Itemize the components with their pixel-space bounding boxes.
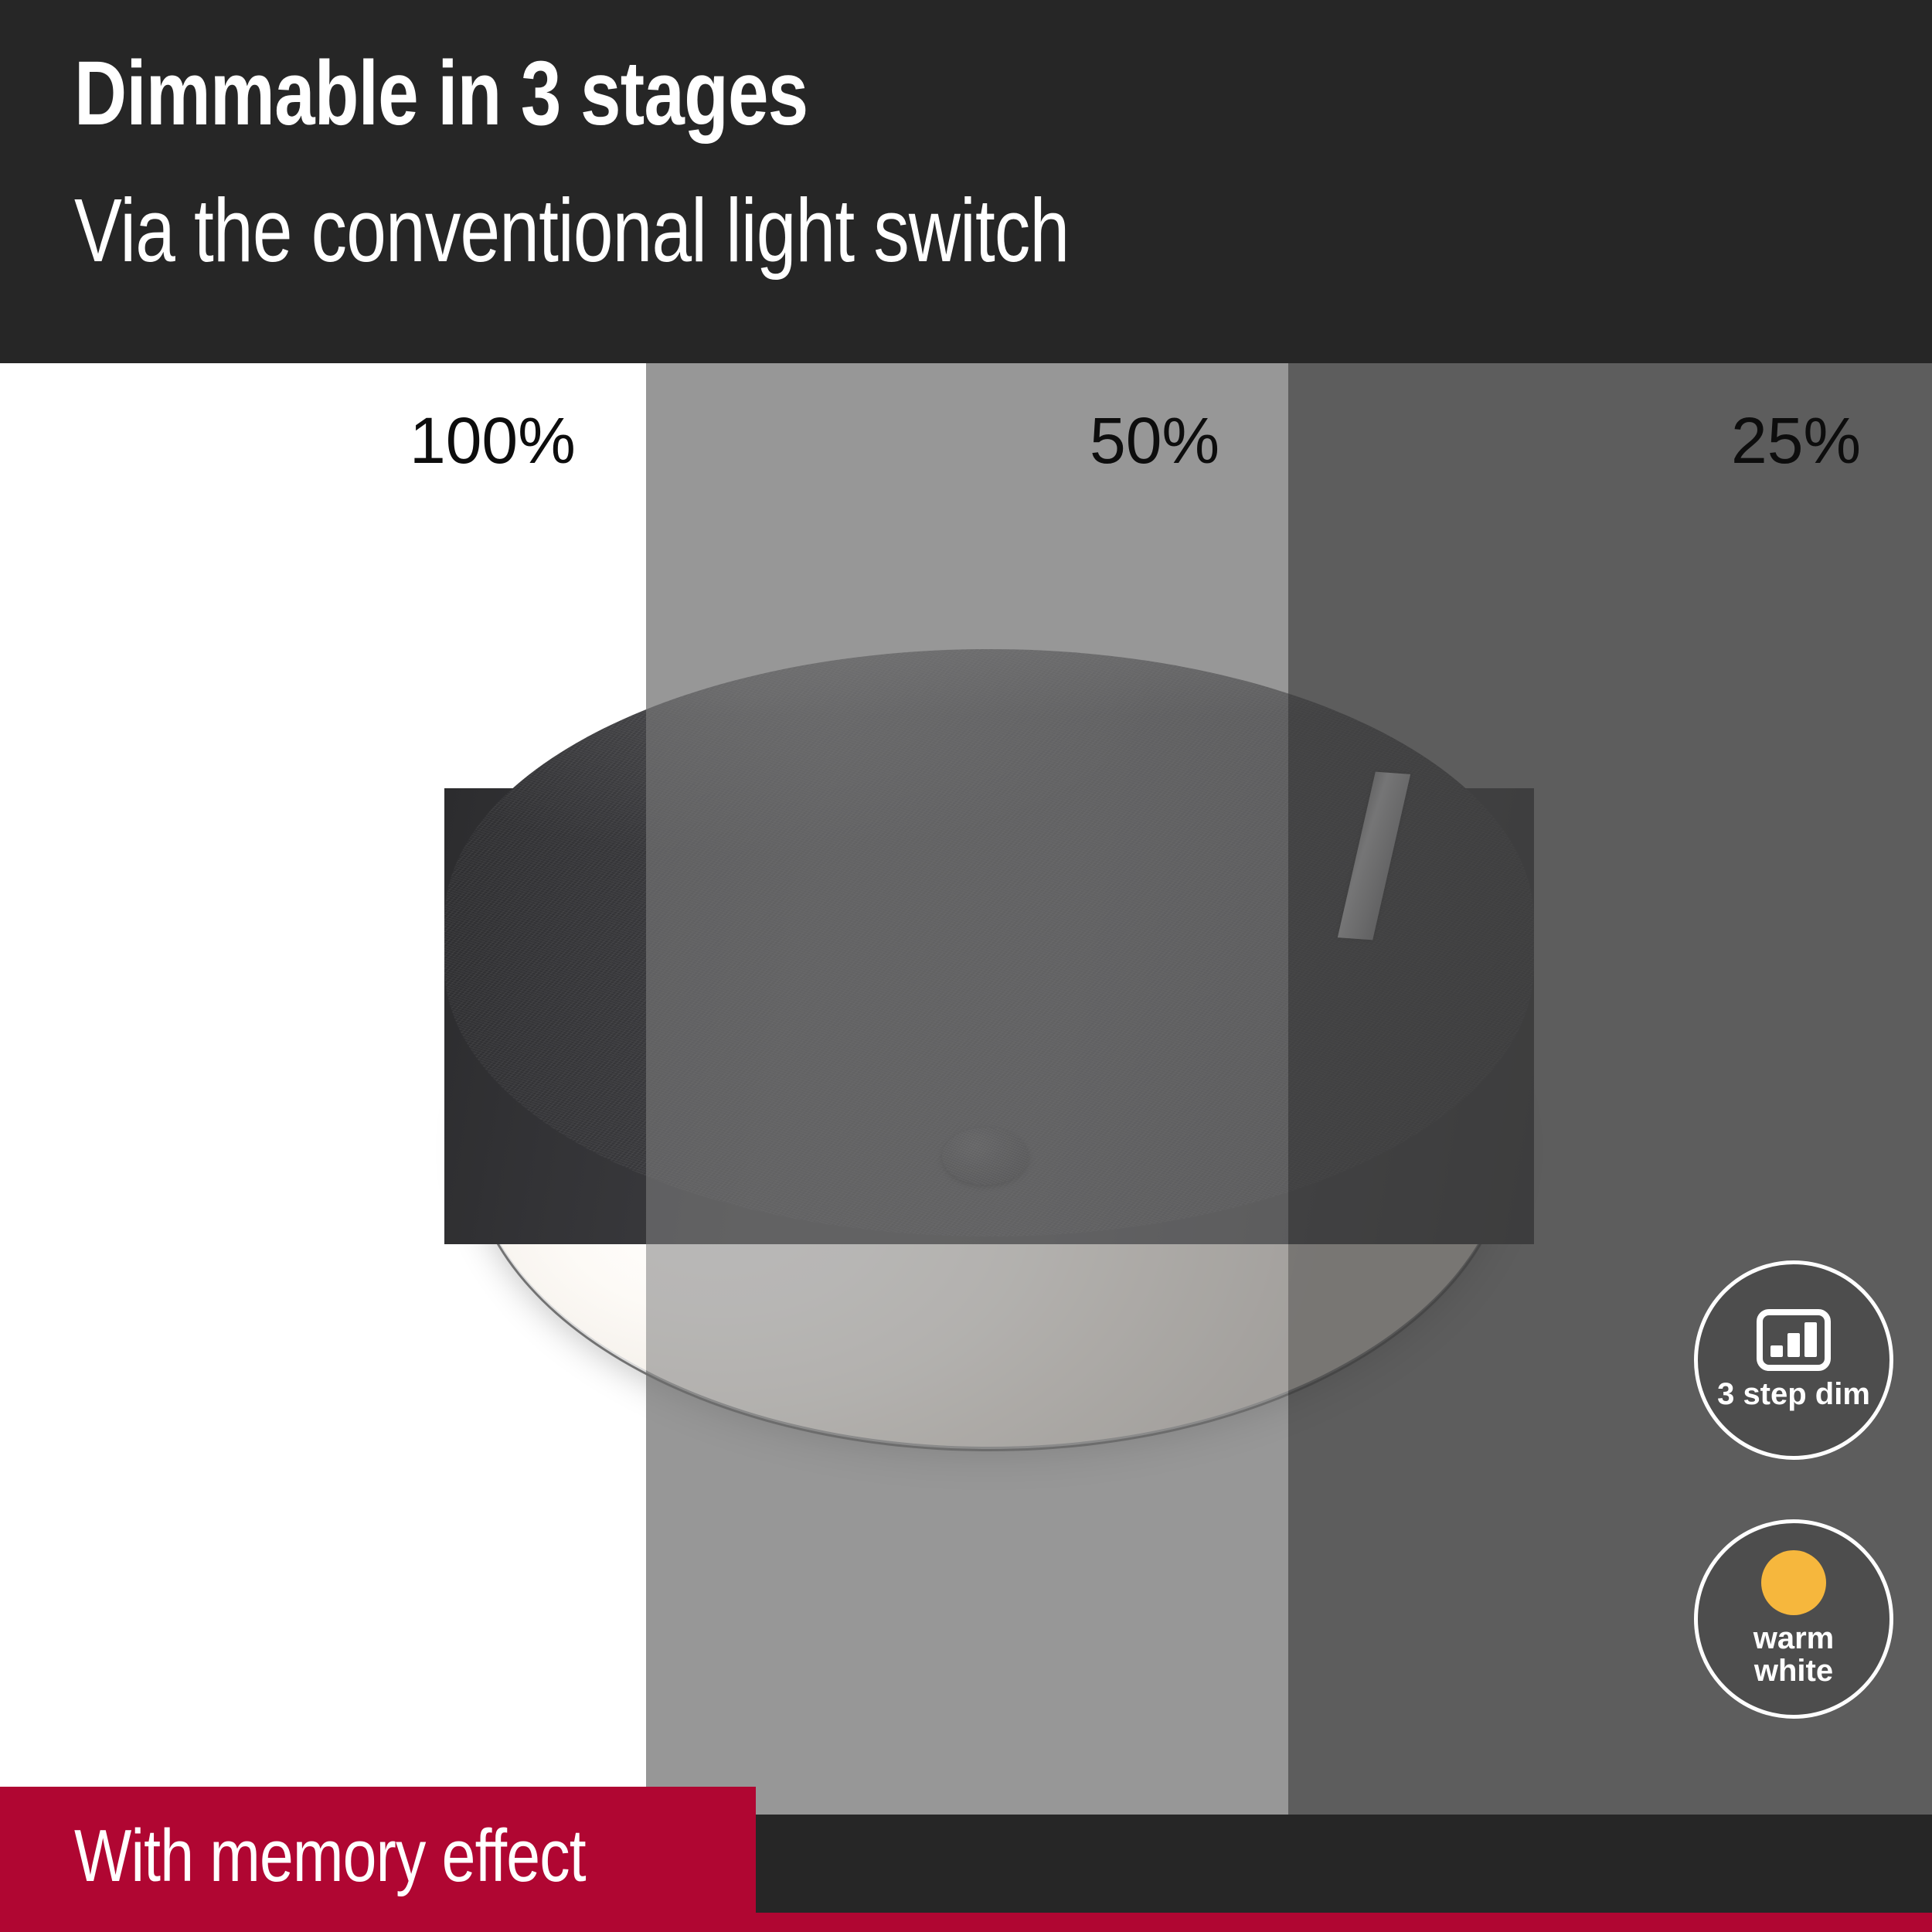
memory-effect-label: With memory effect	[74, 1819, 586, 1893]
badge-label-3-step-dim: 3 step dim	[1717, 1379, 1870, 1411]
label-25-percent: 25%	[1731, 408, 1861, 473]
page-title: Dimmable in 3 stages	[74, 48, 808, 139]
product-feature-graphic: Dimmable in 3 stages Via the conventiona…	[0, 0, 1932, 1932]
bar-step-1	[1770, 1345, 1783, 1357]
bar-steps-icon	[1757, 1309, 1831, 1371]
label-50-percent: 50%	[1090, 408, 1219, 473]
page-subtitle: Via the conventional light switch	[74, 185, 1069, 275]
dimming-labels: 100% 50% 25%	[0, 363, 1932, 1932]
header-banner: Dimmable in 3 stages Via the conventiona…	[0, 0, 1932, 363]
footer-dark-bar	[756, 1815, 1932, 1913]
bar-step-2	[1787, 1333, 1800, 1357]
badge-label-warm-white: warm white	[1753, 1623, 1835, 1687]
memory-effect-banner: With memory effect	[0, 1787, 756, 1932]
warm-white-dot-icon	[1761, 1550, 1826, 1615]
badge-3-step-dim: 3 step dim	[1694, 1260, 1893, 1460]
bar-step-3	[1804, 1322, 1817, 1357]
label-100-percent: 100%	[410, 408, 576, 473]
badge-warm-white: warm white	[1694, 1519, 1893, 1719]
